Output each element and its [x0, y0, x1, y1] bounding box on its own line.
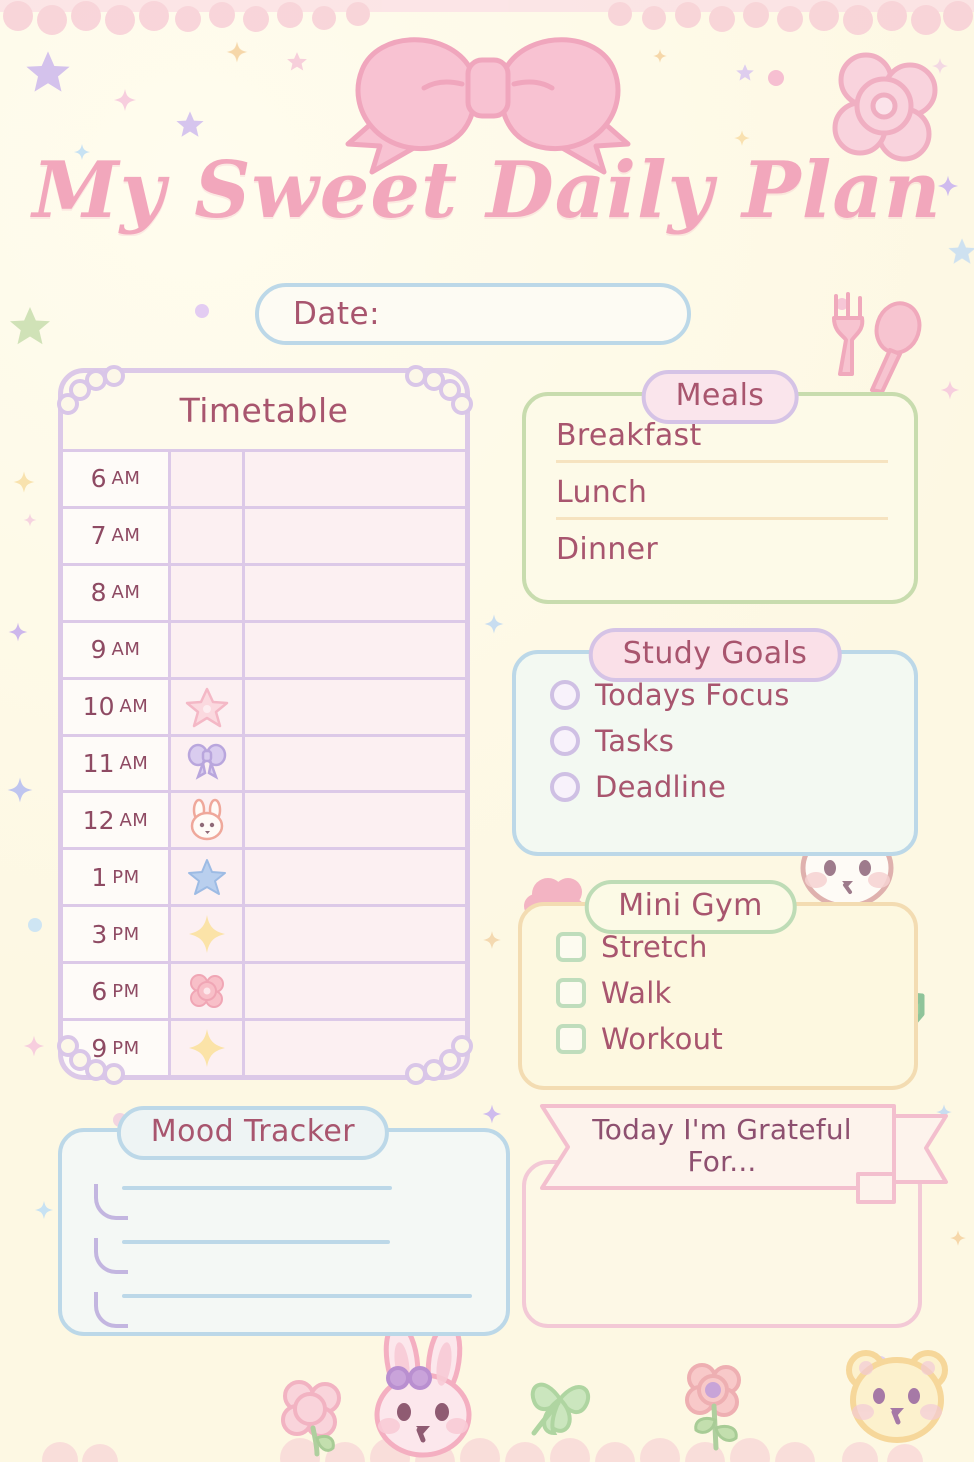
purple-bow-icon: [185, 741, 229, 785]
timetable-meridiem: AM: [119, 753, 148, 774]
timetable-grid: 6AM7AM8AM9AM10AM11AM12AM1PM3PM6PM9PM: [63, 449, 465, 1075]
clover-icon: [516, 1355, 608, 1447]
pink-flower-icon: [185, 969, 229, 1013]
pink-flower-icon: [275, 1376, 359, 1456]
timetable-time-label: 9PM: [63, 1021, 171, 1075]
timetable-icon-cell: [171, 793, 245, 847]
mood-line[interactable]: [94, 1288, 480, 1334]
timetable-note-cell[interactable]: [245, 907, 465, 961]
mini-gym-title: Mini Gym: [584, 880, 797, 934]
timetable-note-cell[interactable]: [245, 793, 465, 847]
mood-line-rule: [122, 1186, 392, 1190]
meal-row[interactable]: Lunch: [556, 475, 888, 520]
fork-icon: [826, 286, 878, 378]
timetable-note-cell[interactable]: [245, 623, 465, 677]
meals-panel: Meals BreakfastLunchDinner: [522, 392, 918, 604]
checkbox-square-icon[interactable]: [556, 932, 586, 962]
blue-star-icon: [185, 855, 229, 899]
mood-tracker-lines: [94, 1180, 480, 1342]
page-title: My Sweet Daily Plan: [0, 152, 974, 230]
timetable-icon-cell: [171, 737, 245, 791]
timetable-row: 7AM: [63, 506, 465, 563]
timetable-panel: Timetable 6AM7AM8AM9AM10AM11AM12AM1PM3PM…: [58, 368, 470, 1080]
timetable-row: 6AM: [63, 449, 465, 506]
grateful-title: Today I'm Grateful For...: [526, 1114, 918, 1177]
grateful-title-line2: For...: [526, 1146, 918, 1178]
meal-row[interactable]: Dinner: [556, 532, 888, 574]
timetable-hour: 7: [91, 521, 107, 550]
study-goals-panel: Study Goals Todays FocusTasksDeadline: [512, 650, 918, 856]
checkbox-square-icon[interactable]: [556, 1024, 586, 1054]
timetable-icon-cell: [171, 452, 245, 506]
timetable-row: 10AM: [63, 677, 465, 734]
check-label: Todays Focus: [595, 678, 790, 712]
timetable-hour: 6: [91, 977, 107, 1006]
timetable-meridiem: AM: [119, 810, 148, 831]
timetable-icon-cell: [171, 850, 245, 904]
timetable-note-cell[interactable]: [245, 964, 465, 1018]
timetable-hour: 12: [83, 806, 115, 835]
timetable-hour: 11: [83, 749, 115, 778]
timetable-meridiem: AM: [112, 525, 141, 546]
meals-title: Meals: [642, 370, 799, 424]
timetable-time-label: 9AM: [63, 623, 171, 677]
timetable-icon-cell: [171, 566, 245, 620]
mini-gym-item[interactable]: Workout: [556, 1022, 914, 1056]
mini-gym-item[interactable]: Walk: [556, 976, 914, 1010]
mini-gym-item[interactable]: Stretch: [556, 930, 914, 964]
yellow-sparkle-icon: [185, 912, 229, 956]
timetable-note-cell[interactable]: [245, 737, 465, 791]
timetable-hour: 1: [91, 863, 107, 892]
pink-star-icon: [185, 685, 229, 729]
timetable-meridiem: AM: [112, 582, 141, 603]
mini-gym-panel: Mini Gym StretchWalkWorkout: [518, 902, 918, 1090]
timetable-icon-cell: [171, 509, 245, 563]
timetable-note-cell[interactable]: [245, 452, 465, 506]
timetable-meridiem: AM: [119, 696, 148, 717]
lace-border-top: [0, 0, 974, 35]
timetable-hour: 3: [91, 920, 107, 949]
grateful-panel: Today I'm Grateful For...: [522, 1160, 922, 1328]
yellow-sparkle-icon: [185, 1026, 229, 1070]
timetable-meridiem: AM: [112, 468, 141, 489]
check-label: Workout: [601, 1022, 723, 1056]
timetable-row: 9PM: [63, 1018, 465, 1075]
planner-page: My Sweet Daily Plan Date: Timetable 6AM7…: [0, 0, 974, 1462]
timetable-note-cell[interactable]: [245, 850, 465, 904]
timetable-row: 6PM: [63, 961, 465, 1018]
timetable-row: 3PM: [63, 904, 465, 961]
timetable-time-label: 6PM: [63, 964, 171, 1018]
timetable-time-label: 12AM: [63, 793, 171, 847]
timetable-row: 11AM: [63, 734, 465, 791]
timetable-note-cell[interactable]: [245, 566, 465, 620]
timetable-time-label: 8AM: [63, 566, 171, 620]
check-label: Stretch: [601, 930, 708, 964]
timetable-icon-cell: [171, 1021, 245, 1075]
grateful-title-line1: Today I'm Grateful: [526, 1114, 918, 1146]
mood-line[interactable]: [94, 1234, 480, 1280]
checkbox-square-icon[interactable]: [556, 978, 586, 1008]
timetable-meridiem: PM: [112, 924, 139, 945]
mood-line-rule: [122, 1294, 472, 1298]
bunny-face-icon: [185, 798, 229, 842]
timetable-row: 1PM: [63, 847, 465, 904]
timetable-time-label: 6AM: [63, 452, 171, 506]
study-goal-item[interactable]: Tasks: [550, 724, 914, 758]
check-label: Deadline: [595, 770, 726, 804]
timetable-time-label: 11AM: [63, 737, 171, 791]
timetable-note-cell[interactable]: [245, 680, 465, 734]
timetable-meridiem: PM: [112, 1038, 139, 1059]
timetable-icon-cell: [171, 680, 245, 734]
timetable-note-cell[interactable]: [245, 509, 465, 563]
date-field[interactable]: Date:: [255, 283, 691, 345]
timetable-hour: 8: [91, 578, 107, 607]
pink-flower-icon: [676, 1360, 756, 1452]
date-label: Date:: [293, 296, 380, 332]
bear-face-icon: [838, 1342, 958, 1452]
timetable-time-label: 3PM: [63, 907, 171, 961]
timetable-time-label: 1PM: [63, 850, 171, 904]
timetable-icon-cell: [171, 623, 245, 677]
timetable-hour: 6: [91, 464, 107, 493]
checkbox-circle-icon[interactable]: [550, 772, 580, 802]
meal-row[interactable]: Breakfast: [556, 418, 888, 463]
timetable-hour: 9: [91, 1034, 107, 1063]
timetable-meridiem: PM: [112, 867, 139, 888]
timetable-meridiem: AM: [112, 639, 141, 660]
checkbox-circle-icon[interactable]: [550, 726, 580, 756]
timetable-row: 8AM: [63, 563, 465, 620]
timetable-icon-cell: [171, 964, 245, 1018]
timetable-icon-cell: [171, 907, 245, 961]
check-label: Tasks: [595, 724, 674, 758]
study-goals-title: Study Goals: [589, 628, 842, 682]
timetable-time-label: 10AM: [63, 680, 171, 734]
checkbox-circle-icon[interactable]: [550, 680, 580, 710]
mood-line-rule: [122, 1240, 390, 1244]
study-goal-item[interactable]: Todays Focus: [550, 678, 914, 712]
timetable-row: 12AM: [63, 790, 465, 847]
check-label: Walk: [601, 976, 672, 1010]
grateful-value[interactable]: [550, 1234, 894, 1314]
timetable-row: 9AM: [63, 620, 465, 677]
mood-line[interactable]: [94, 1180, 480, 1226]
timetable-hour: 9: [91, 635, 107, 664]
timetable-note-cell[interactable]: [245, 1021, 465, 1075]
study-goal-item[interactable]: Deadline: [550, 770, 914, 804]
timetable-title: Timetable: [63, 373, 465, 430]
timetable-time-label: 7AM: [63, 509, 171, 563]
lace-border-bottom: [42, 1438, 923, 1462]
spoon-icon: [866, 302, 922, 394]
timetable-hour: 10: [83, 692, 115, 721]
mood-tracker-panel: Mood Tracker: [58, 1128, 510, 1336]
timetable-meridiem: PM: [112, 981, 139, 1002]
mood-tracker-title: Mood Tracker: [117, 1106, 389, 1160]
